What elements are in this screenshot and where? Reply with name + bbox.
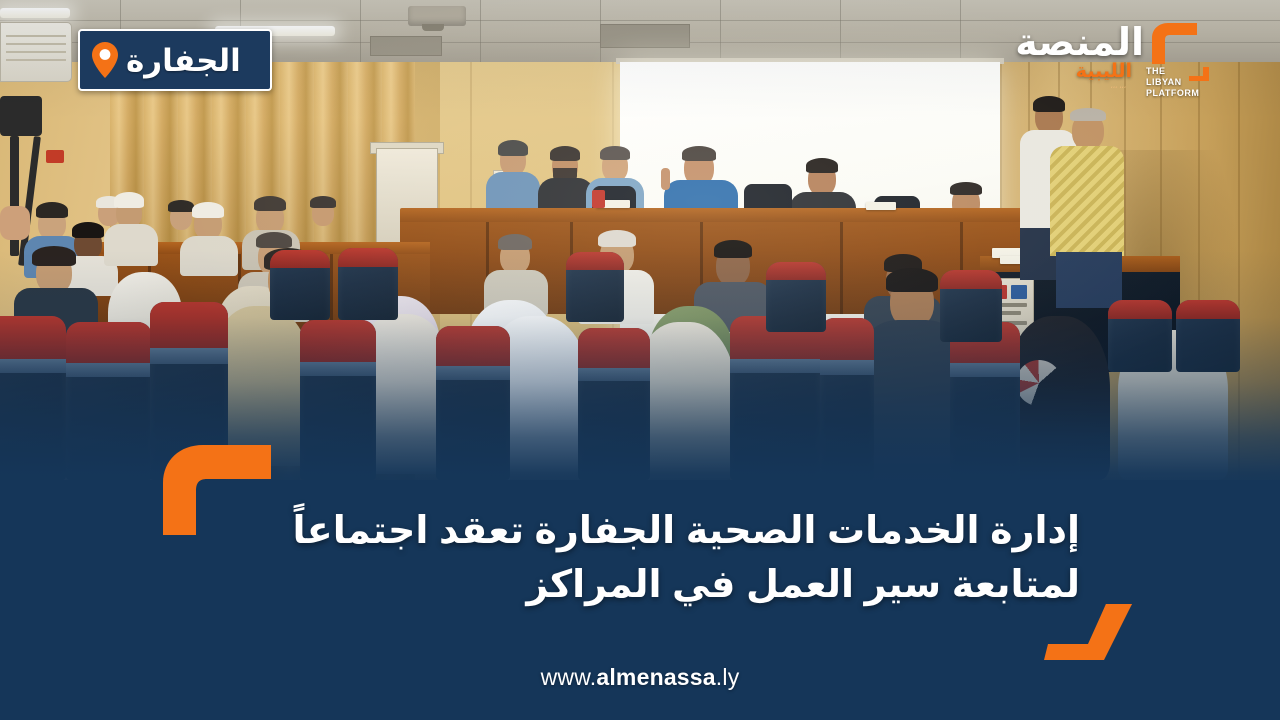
headline-line-2: لمتابعة سير العمل في المراكز (180, 559, 1080, 613)
ceiling-vent (370, 36, 442, 56)
ceiling-vent (600, 24, 690, 48)
auditorium-chair (950, 322, 1020, 480)
cup (592, 190, 605, 208)
logo-hook-icon (1148, 22, 1198, 64)
ceiling-light (0, 8, 70, 18)
auditorium-chair (820, 318, 874, 480)
scarf-pattern (1016, 360, 1062, 406)
ceiling-projector (408, 6, 466, 26)
auditorium-chair (0, 316, 66, 480)
auditorium-chair (940, 270, 1002, 342)
logo-english-line2: PLATFORM (1146, 88, 1199, 98)
url-brand: almenassa (596, 664, 715, 690)
ceiling-grid-line (720, 0, 721, 62)
headline: إدارة الخدمات الصحية الجفارة تعقد اجتماع… (180, 505, 1080, 613)
auditorium-chair (578, 328, 650, 480)
logo-english-tagline: THE LIBYAN PLATFORM (1146, 66, 1198, 98)
auditorium-chair (566, 252, 624, 322)
ceiling-grid-line (840, 0, 841, 62)
camera-operator-hand (0, 206, 30, 240)
wood-panel-line (1238, 40, 1240, 480)
raised-hand (661, 168, 670, 190)
table-seam (840, 222, 843, 314)
url-prefix: www. (541, 664, 597, 690)
news-card: الجفارة المنصة الليبية ،،، ،،، THE LIBYA… (0, 0, 1280, 720)
channel-logo: المنصة الليبية ،،، ،،، THE LIBYAN PLATFO… (1012, 22, 1202, 100)
headline-line-1: إدارة الخدمات الصحية الجفارة تعقد اجتماع… (293, 510, 1080, 552)
logo-decor-dots: ،،، ،،، (1110, 82, 1126, 90)
air-conditioner (0, 22, 72, 82)
logo-arabic-secondary: الليبية (1076, 62, 1132, 81)
location-badge: الجفارة (78, 29, 272, 91)
auditorium-chair (1108, 300, 1172, 372)
auditorium-chair (270, 250, 330, 320)
ceiling-grid-line (360, 0, 361, 62)
auditorium-chair (300, 320, 376, 480)
auditorium-chair (730, 316, 820, 480)
ceiling-grid-line (960, 0, 961, 62)
ceiling-grid-line (0, 20, 1280, 21)
map-pin-icon (90, 41, 120, 79)
location-label: الجفارة (126, 45, 241, 76)
trousers (1056, 252, 1122, 308)
url-tld: .ly (716, 664, 740, 690)
auditorium-chair (66, 322, 152, 480)
logo-english-line1: THE LIBYAN (1146, 66, 1182, 87)
ceiling-grid-line (480, 0, 481, 62)
video-camera (0, 96, 42, 136)
auditorium-chair (436, 326, 510, 480)
auditorium-chair (766, 262, 826, 332)
auditorium-chair (1176, 300, 1240, 372)
logo-arabic-primary: المنصة (1015, 24, 1144, 62)
website-url[interactable]: www.almenassa.ly (0, 664, 1280, 691)
auditorium-chair (338, 248, 398, 320)
papers (866, 202, 896, 210)
fire-alarm (46, 150, 64, 163)
